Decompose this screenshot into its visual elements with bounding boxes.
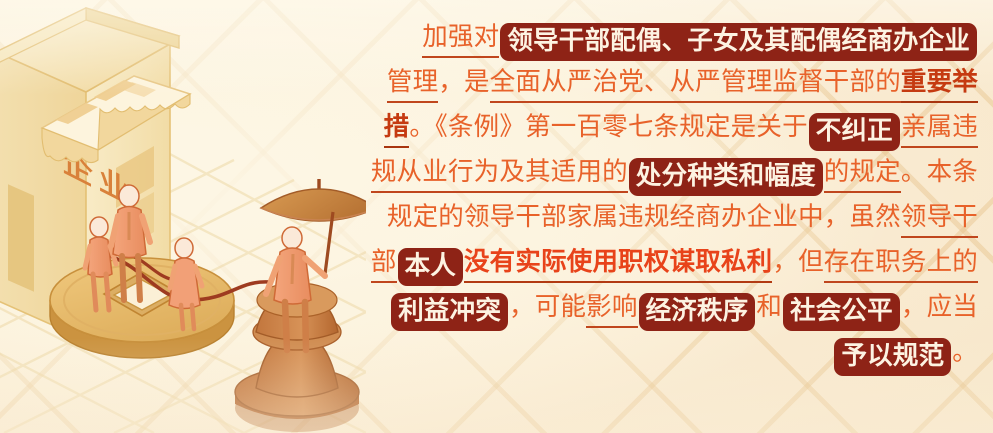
text-segment: 没有实际使用职权谋取私利 bbox=[464, 247, 772, 283]
text-segment: ，但 bbox=[772, 247, 823, 276]
text-line: 措。《条例》第一百零七条规定是关于不纠正亲属违 bbox=[358, 104, 978, 149]
highlight-pill: 利益冲突 bbox=[391, 293, 508, 331]
article-paragraph: 加强对领导干部配偶、子女及其配偶经商办企业管理，是全面从严治党、从严管理监督干部… bbox=[358, 14, 978, 419]
text-segment: 领导干 bbox=[901, 202, 978, 238]
text-line: 部本人没有实际使用职权谋取私利，但存在职务上的 bbox=[358, 239, 978, 284]
text-segment: 。本条 bbox=[901, 157, 978, 186]
text-segment: 。《条例》第一百零七条规定是关于 bbox=[409, 112, 807, 141]
text-segment: 加强对 bbox=[422, 22, 499, 58]
highlight-pill: 予以规范 bbox=[834, 338, 951, 376]
text-segment: 措 bbox=[384, 112, 410, 148]
highlight-pill: 处分种类和幅度 bbox=[629, 158, 823, 196]
text-line: 规定的领导干部家属违规经商办企业中，虽然领导干 bbox=[358, 194, 978, 239]
text-line: 利益冲突，可能影响经济秩序和社会公平，应当 bbox=[358, 284, 978, 329]
text-segment: 部 bbox=[371, 247, 397, 283]
text-segment: 和 bbox=[756, 292, 782, 321]
text-segment: 管理 bbox=[387, 67, 438, 103]
highlight-pill: 本人 bbox=[398, 248, 463, 286]
text-segment: 影响 bbox=[586, 292, 637, 328]
text-segment: ，可能 bbox=[509, 292, 586, 321]
text-segment: 规从业行为及其适用的 bbox=[371, 157, 628, 193]
text-line: 予以规范。 bbox=[358, 329, 978, 374]
highlight-pill: 经济秩序 bbox=[639, 293, 756, 331]
text-segment: ，应当 bbox=[901, 292, 978, 321]
text-segment: 。 bbox=[952, 337, 978, 366]
text-line: 管理，是全面从严治党、从严管理监督干部的重要举 bbox=[358, 59, 978, 104]
text-line: 加强对领导干部配偶、子女及其配偶经商办企业 bbox=[358, 14, 978, 59]
text-line: 规从业行为及其适用的处分种类和幅度的规定。本条 bbox=[358, 149, 978, 194]
highlight-pill: 领导干部配偶、子女及其配偶经商办企业 bbox=[500, 23, 977, 61]
text-segment: 存在职务上的 bbox=[824, 247, 978, 283]
text-segment: 全面从严治党、从严管理监督干部的 bbox=[490, 67, 901, 103]
poster-canvas: 企业 bbox=[0, 0, 993, 433]
text-segment: 虽然 bbox=[849, 202, 900, 231]
text-segment: 重要举 bbox=[901, 67, 978, 103]
text-segment: ，是 bbox=[438, 67, 489, 96]
text-segment: 亲属违 bbox=[901, 112, 978, 148]
text-segment: 规定的领导干部家属违规经商办企业中， bbox=[387, 202, 850, 231]
text-segment: 的规定 bbox=[824, 157, 901, 193]
highlight-pill: 不纠正 bbox=[809, 113, 900, 151]
highlight-pill: 社会公平 bbox=[783, 293, 900, 331]
